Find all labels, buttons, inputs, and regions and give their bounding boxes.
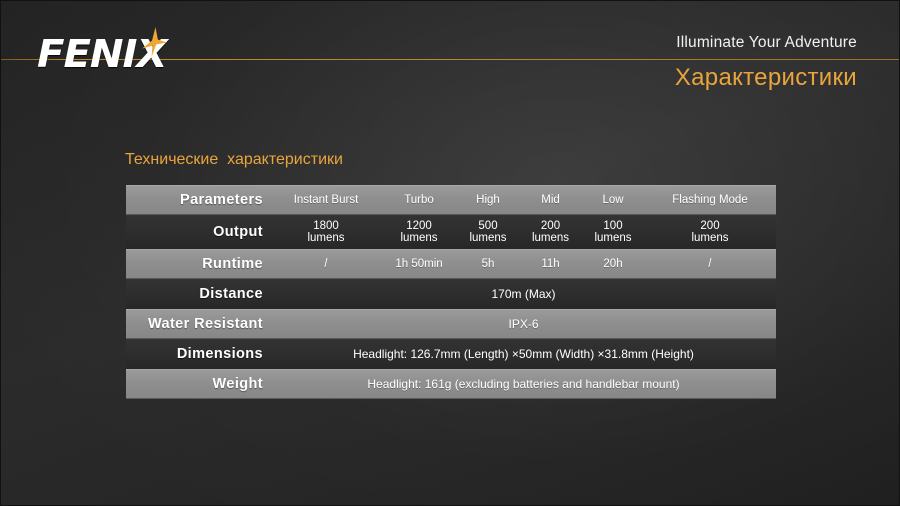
star-icon <box>140 27 168 57</box>
row-label-distance: Distance <box>126 286 271 302</box>
cell-water-resistant-value: IPX-6 <box>271 317 776 331</box>
slide-title: Характеристики <box>675 64 857 92</box>
row-label-output: Output <box>126 224 271 240</box>
section-heading: Технические характеристики <box>125 151 343 169</box>
row-label-weight: Weight <box>126 376 271 392</box>
cell-output-mid: 200 lumens <box>519 220 582 245</box>
cell-runtime-high: 5h <box>457 258 519 271</box>
table-row: Dimensions Headlight: 126.7mm (Length) ×… <box>126 339 776 369</box>
column-header-flashing-mode: Flashing Mode <box>644 194 776 207</box>
row-values-output: 1800 lumens 1200 lumens 500 lumens 200 l… <box>271 215 776 249</box>
fenix-logo: FENIX <box>37 28 217 74</box>
column-header-mid: Mid <box>519 194 582 207</box>
table-row: Runtime / 1h 50min 5h 11h 20h / <box>126 249 776 279</box>
table-header-row: Parameters Instant Burst Turbo High Mid … <box>126 185 776 215</box>
row-label-water-resistant: Water Resistant <box>126 316 271 332</box>
column-header-high: High <box>457 194 519 207</box>
table-row: Water Resistant IPX-6 <box>126 309 776 339</box>
cell-output-high: 500 lumens <box>457 220 519 245</box>
row-label-runtime: Runtime <box>126 256 271 272</box>
column-header-parameters: Parameters <box>126 192 271 208</box>
table-row: Weight Headlight: 161g (excluding batter… <box>126 369 776 399</box>
column-header-low: Low <box>582 194 644 207</box>
table-row: Output 1800 lumens 1200 lumens 500 lumen… <box>126 215 776 249</box>
cell-distance-value: 170m (Max) <box>271 287 776 301</box>
cell-runtime-mid: 11h <box>519 258 582 271</box>
cell-weight-value: Headlight: 161g (excluding batteries and… <box>271 377 776 391</box>
cell-output-low: 100 lumens <box>582 220 644 245</box>
column-header-cells: Instant Burst Turbo High Mid Low Flashin… <box>271 186 776 214</box>
specifications-table: Parameters Instant Burst Turbo High Mid … <box>126 185 776 399</box>
cell-runtime-flashing-mode: / <box>644 258 776 271</box>
slide-canvas: FENIX Illuminate Your Adventure Характер… <box>0 0 900 506</box>
slide-header: FENIX Illuminate Your Adventure Характер… <box>1 1 900 105</box>
cell-dimensions-value: Headlight: 126.7mm (Length) ×50mm (Width… <box>271 347 776 361</box>
cell-output-turbo: 1200 lumens <box>381 220 457 245</box>
row-label-dimensions: Dimensions <box>126 346 271 362</box>
cell-runtime-low: 20h <box>582 258 644 271</box>
header-tagline: Illuminate Your Adventure <box>676 34 857 52</box>
row-values-runtime: / 1h 50min 5h 11h 20h / <box>271 250 776 278</box>
cell-output-flashing-mode: 200 lumens <box>644 220 776 245</box>
column-header-turbo: Turbo <box>381 194 457 207</box>
table-row: Distance 170m (Max) <box>126 279 776 309</box>
cell-runtime-turbo: 1h 50min <box>381 258 457 271</box>
cell-output-instant-burst: 1800 lumens <box>271 220 381 245</box>
cell-runtime-instant-burst: / <box>271 258 381 271</box>
column-header-instant-burst: Instant Burst <box>271 194 381 207</box>
